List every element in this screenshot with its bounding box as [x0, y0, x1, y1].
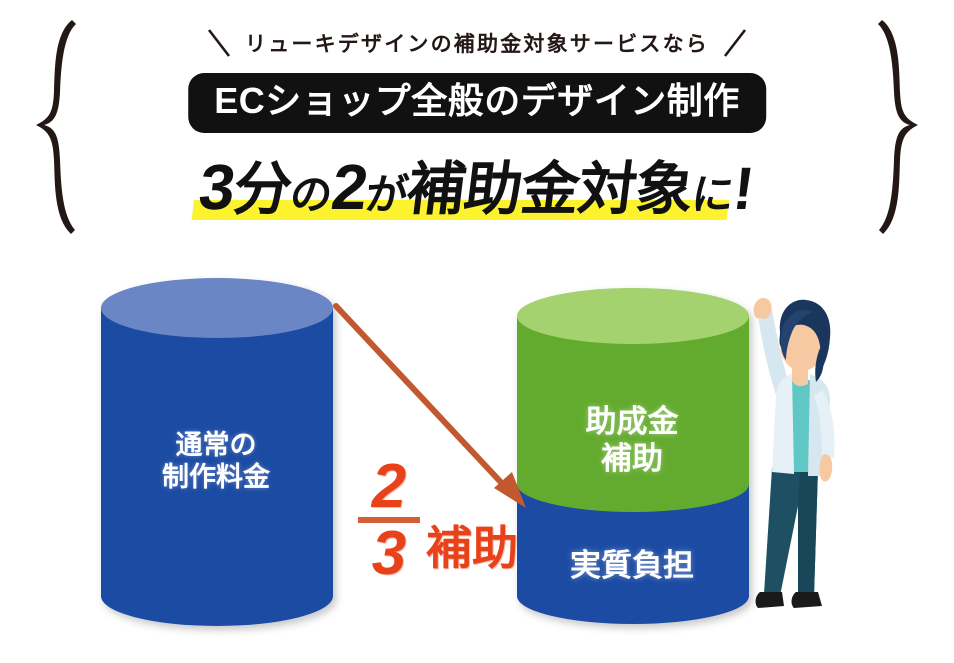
right-cylinder: [516, 288, 750, 626]
fraction-denominator: 3: [372, 525, 406, 583]
headline-part-no: の: [288, 171, 335, 218]
infographic-canvas: リューキデザインの補助金対象サービスなら ECショップ全般のデザイン制作 3 分…: [0, 0, 954, 663]
fraction-numerator: 2: [372, 458, 406, 516]
headline-part-bun: 分: [230, 157, 295, 222]
fraction: 2 3: [358, 458, 420, 582]
headline-part-ga: が: [363, 171, 410, 218]
kicker-text: リューキデザインの補助金対象サービスなら: [245, 28, 709, 58]
slash-right-icon: [721, 28, 747, 58]
slash-left-icon: [207, 28, 233, 58]
kicker-row: リューキデザインの補助金対象サービスなら: [0, 28, 954, 58]
headline-wrap: 3 分 の 2 が 補助金 対象 に !: [0, 142, 954, 226]
fraction-group: 2 3 補助: [358, 458, 518, 582]
woman-reaching-illustration-icon: [736, 292, 884, 640]
headline-part-hojokin: 補助金: [404, 157, 583, 222]
headline-part-bang: !: [730, 155, 757, 222]
banner-text: ECショップ全般のデザイン制作: [214, 79, 740, 123]
headline-part-ni: に: [689, 171, 736, 218]
left-cylinder: [100, 278, 334, 626]
fraction-suffix: 補助: [426, 512, 518, 582]
banner-pill: ECショップ全般のデザイン制作: [188, 73, 766, 133]
headline: 3 分 の 2 が 補助金 対象 に !: [195, 142, 759, 226]
headline-part-taisho: 対象: [575, 157, 697, 222]
